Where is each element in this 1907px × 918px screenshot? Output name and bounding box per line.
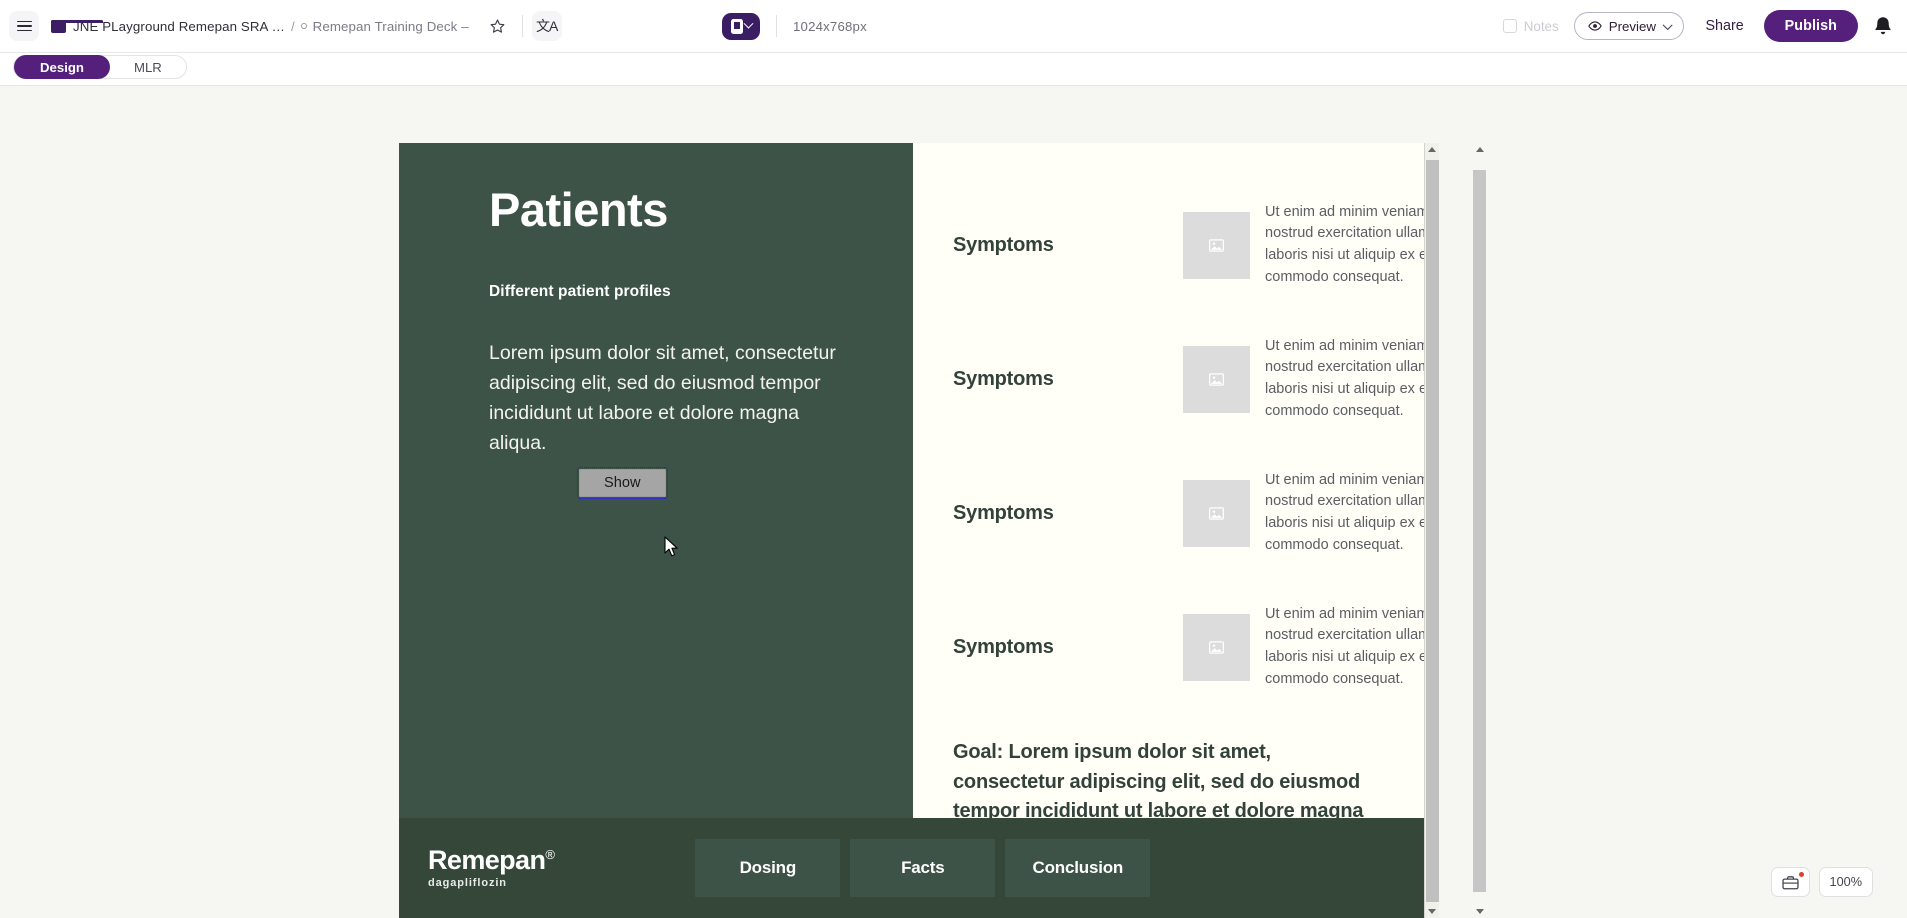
symptom-label: Symptoms	[953, 636, 1183, 659]
symptom-row: Symptoms Ut enim ad minim veniam, quis n…	[953, 178, 1439, 312]
symptom-label: Symptoms	[953, 368, 1183, 391]
brand-logo: Remepan® dagapliflozin	[428, 847, 554, 889]
triangle-down-icon	[1476, 909, 1484, 914]
toolbar-right-group: Notes Preview Share Publish	[1503, 10, 1894, 42]
notes-label: Notes	[1524, 19, 1559, 34]
nav-button-conclusion[interactable]: Conclusion	[1005, 839, 1150, 897]
image-placeholder[interactable]	[1183, 480, 1250, 547]
generic-name: dagapliflozin	[428, 877, 554, 889]
favorite-button[interactable]	[483, 11, 513, 41]
mode-tab-bar: Design MLR	[0, 53, 1907, 86]
toolbar-left-group: JNE PLayground Remepan SRA … / Remepan T…	[0, 11, 562, 41]
toolkit-button[interactable]	[1771, 867, 1810, 897]
mode-tab-group: Design MLR	[13, 55, 187, 79]
slide-footer: Remepan® dagapliflozin Dosing Facts Conc…	[399, 818, 1439, 918]
share-button[interactable]: Share	[1706, 18, 1744, 34]
chevron-down-icon	[743, 18, 753, 28]
toolbox-icon	[1782, 875, 1799, 890]
breadcrumb-project[interactable]: JNE PLayground Remepan SRA …	[73, 19, 285, 34]
translate-button[interactable]: 文A	[532, 11, 562, 41]
star-icon	[489, 18, 506, 34]
hamburger-menu-button[interactable]	[9, 11, 39, 41]
slide-body: Patients Different patient profiles Lore…	[399, 143, 1439, 818]
symptom-text: Ut enim ad minim veniam, quis nostrud ex…	[1265, 336, 1439, 423]
chevron-down-icon	[1663, 20, 1672, 29]
brand-name-text: Remepan	[428, 845, 545, 875]
nav-button-facts[interactable]: Facts	[850, 839, 995, 897]
symptom-row: Symptoms Ut enim ad minim veniam, quis n…	[953, 446, 1439, 580]
publish-button[interactable]: Publish	[1764, 10, 1858, 42]
tab-design[interactable]: Design	[14, 55, 110, 79]
show-button[interactable]: Show	[579, 469, 666, 497]
device-selector[interactable]	[722, 13, 760, 40]
symptom-row: Symptoms Ut enim ad minim veniam, quis n…	[953, 580, 1439, 714]
bell-icon[interactable]	[1872, 15, 1894, 37]
image-placeholder[interactable]	[1183, 614, 1250, 681]
hamburger-menu-icon	[17, 21, 32, 32]
canvas-scrollbar[interactable]	[1472, 143, 1487, 918]
tab-mlr[interactable]: MLR	[110, 55, 186, 79]
image-placeholder-icon	[1209, 507, 1224, 520]
scroll-up-button[interactable]	[1425, 143, 1440, 156]
slide-left-panel: Patients Different patient profiles Lore…	[399, 143, 913, 818]
scroll-down-button[interactable]	[1425, 905, 1440, 918]
triangle-up-icon	[1476, 147, 1484, 152]
slide-title: Patients	[489, 185, 913, 234]
eye-icon	[1588, 19, 1602, 33]
toolbar-divider	[522, 15, 523, 37]
canvas-bottom-controls: 100%	[1771, 867, 1873, 897]
folder-icon	[51, 20, 66, 33]
slide-body-copy: Lorem ipsum dolor sit amet, consectetur …	[489, 339, 849, 458]
notes-toggle[interactable]: Notes	[1503, 19, 1559, 34]
slide-scrollbar[interactable]	[1424, 143, 1439, 918]
scrollbar-thumb[interactable]	[1473, 170, 1486, 892]
top-toolbar: JNE PLayground Remepan SRA … / Remepan T…	[0, 0, 1907, 53]
symptom-text: Ut enim ad minim veniam, quis nostrud ex…	[1265, 202, 1439, 289]
scroll-down-button[interactable]	[1472, 905, 1487, 918]
symptom-text: Ut enim ad minim veniam, quis nostrud ex…	[1265, 604, 1439, 691]
zoom-level-label: 100%	[1830, 875, 1862, 889]
notification-dot	[1799, 872, 1804, 877]
brand-name: Remepan®	[428, 847, 554, 874]
slide-preview: Patients Different patient profiles Lore…	[399, 143, 1439, 918]
document-status-icon	[301, 23, 307, 29]
image-placeholder-icon	[1209, 641, 1224, 654]
show-button-wrapper: Show	[579, 469, 913, 497]
breadcrumb-separator: /	[291, 19, 295, 34]
triangle-down-icon	[1428, 909, 1436, 914]
footer-nav: Dosing Facts Conclusion	[695, 839, 1150, 897]
symptom-label: Symptoms	[953, 234, 1183, 257]
symptom-text: Ut enim ad minim veniam, quis nostrud ex…	[1265, 470, 1439, 557]
scroll-up-button[interactable]	[1472, 143, 1487, 156]
scrollbar-thumb[interactable]	[1426, 160, 1439, 902]
canvas-dimensions: 1024x768px	[793, 19, 867, 34]
image-placeholder[interactable]	[1183, 346, 1250, 413]
image-placeholder-icon	[1209, 373, 1224, 386]
slide-subtitle: Different patient profiles	[489, 283, 913, 301]
triangle-up-icon	[1428, 147, 1436, 152]
image-placeholder-icon	[1209, 239, 1224, 252]
notes-icon	[1503, 19, 1517, 33]
slide-right-panel: Symptoms Ut enim ad minim veniam, quis n…	[913, 143, 1439, 818]
registered-mark: ®	[545, 847, 554, 862]
device-divider	[776, 15, 777, 37]
slide-canvas: Patients Different patient profiles Lore…	[0, 86, 1907, 918]
symptom-label: Symptoms	[953, 502, 1183, 525]
translate-icon: 文A	[536, 16, 557, 36]
preview-button[interactable]: Preview	[1574, 12, 1684, 40]
image-placeholder[interactable]	[1183, 212, 1250, 279]
nav-button-dosing[interactable]: Dosing	[695, 839, 840, 897]
preview-label: Preview	[1609, 19, 1656, 34]
toolbar-device-group: 1024x768px	[722, 13, 867, 40]
zoom-level-button[interactable]: 100%	[1819, 867, 1873, 897]
breadcrumb-document[interactable]: Remepan Training Deck –	[313, 19, 469, 34]
tablet-device-icon	[731, 19, 743, 34]
symptom-row: Symptoms Ut enim ad minim veniam, quis n…	[953, 312, 1439, 446]
